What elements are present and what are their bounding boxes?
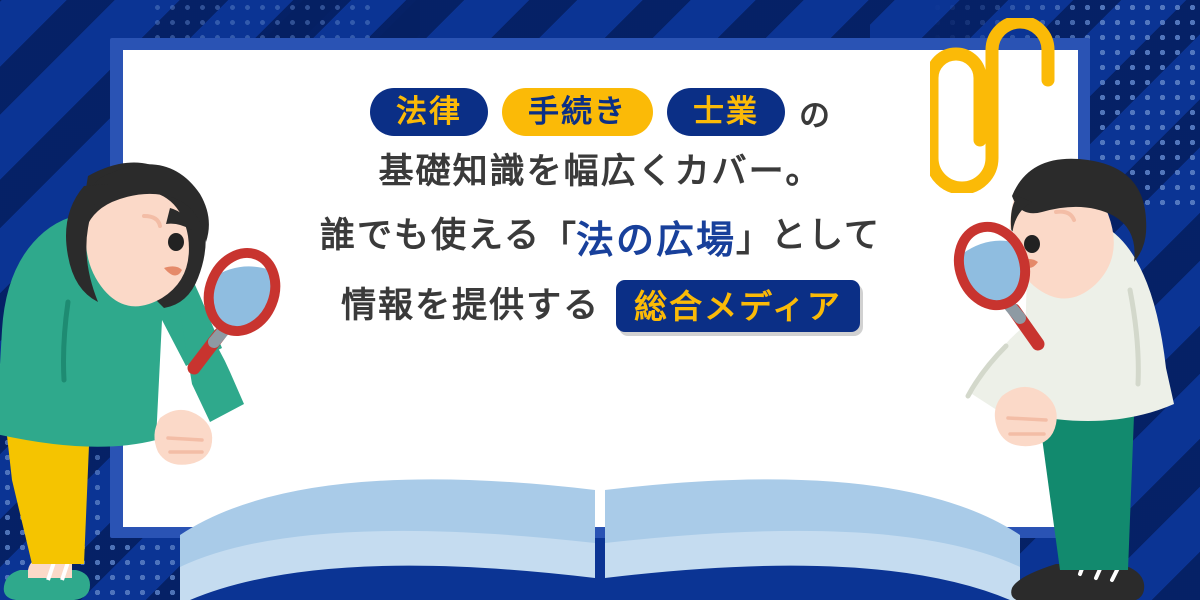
headline-line-2-text: 基礎知識を幅広くカバー。	[379, 152, 823, 193]
headline-line-1-suffix: の	[799, 90, 831, 135]
banner-root: 法律 手続き 士業 の 基礎知識を幅広くカバー。 誰でも使える 「 法の広場 」…	[0, 0, 1200, 600]
close-bracket: 」	[736, 211, 771, 262]
badge-media: 総合メディア	[616, 280, 860, 332]
headline-line-3-suffix: として	[771, 216, 881, 257]
open-book-icon	[180, 415, 1020, 600]
headline-line-1: 法律 手続き 士業 の	[123, 88, 1078, 136]
badge-professional: 士業	[667, 88, 785, 136]
magnifier-icon-left	[178, 248, 298, 388]
headline-line-4-prefix: 情報を提供する	[341, 286, 600, 327]
badge-law: 法律	[370, 88, 488, 136]
open-bracket: 「	[541, 211, 576, 262]
headline-line-3-prefix: 誰でも使える	[320, 216, 541, 257]
badge-procedure: 手続き	[502, 88, 653, 136]
headline-emphasis: 法の広場	[576, 209, 736, 264]
magnifier-icon-right	[940, 218, 1060, 368]
